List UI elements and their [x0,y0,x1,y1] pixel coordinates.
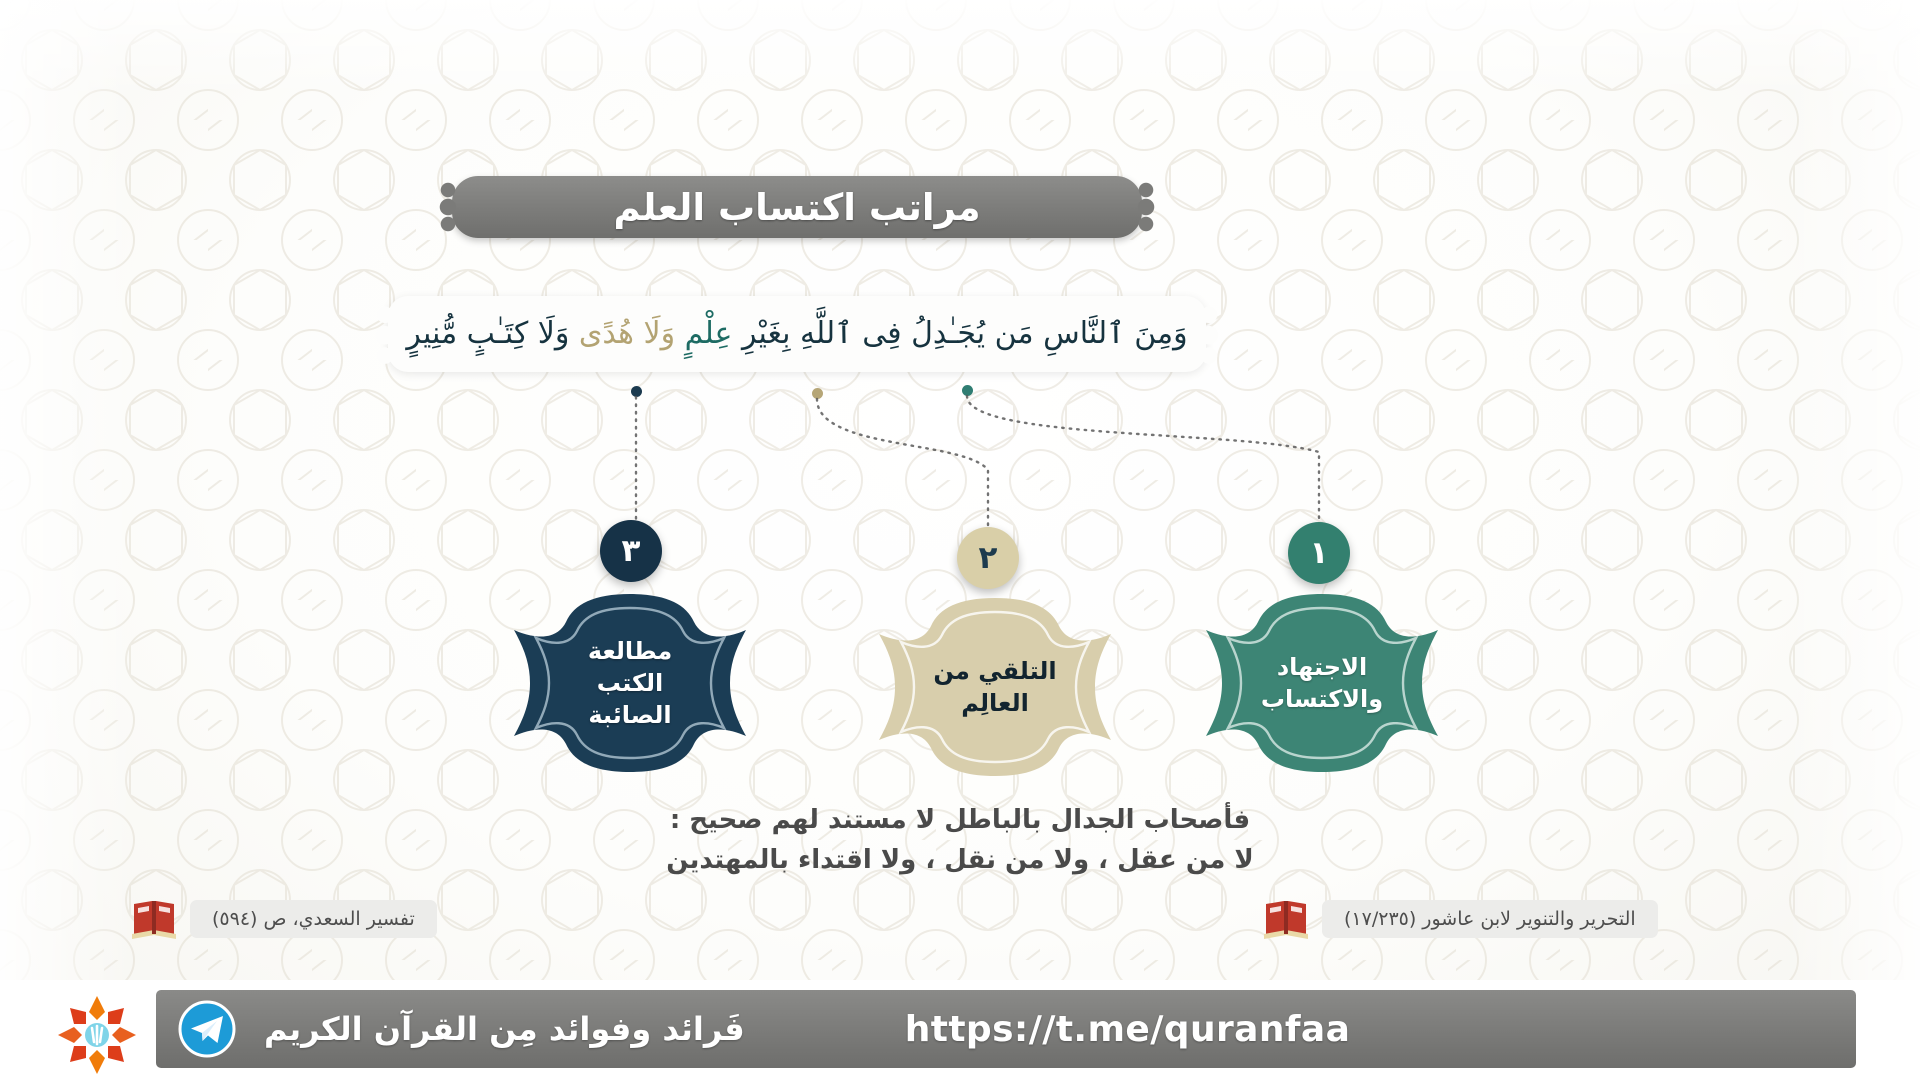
infographic-poster: مراتب اكتساب العلم وَمِنَ ٱلنَّاسِ مَن ي… [0,0,1920,1078]
verse-segment-lead: وَمِنَ ٱلنَّاسِ مَن يُجَـٰدِلُ فِى ٱللَّ… [742,316,1188,351]
book-icon [1262,898,1310,940]
conclusion-text: فأصحاب الجدال بالباطل لا مستند لهم صحيح … [360,800,1560,881]
rank-number-3: ٣ [622,533,641,569]
connector-rank-2 [817,399,988,527]
rank-badge-label-3: مطالعة الكتب الصائبة [544,635,716,731]
connector-rank-1 [967,396,1319,522]
telegram-icon[interactable] [178,1000,236,1058]
rank-badge-line-2a: التلقي من [933,655,1056,687]
rank-badge-label-2: التلقي من العالِم [889,655,1100,719]
rank-badge-line-1b: والاكتساب [1261,683,1383,715]
rank-number-bubble-2[interactable]: ٢ [957,527,1019,589]
rank-number-bubble-3[interactable]: ٣ [600,520,662,582]
rank-number-2: ٢ [979,540,998,576]
verse-segment-ilm: عِلْمٍ [685,316,742,351]
verse-segment-huda: وَلَا هُدًى [579,316,685,351]
citation-left: تفسير السعدي، ص (٥٩٤) [130,898,437,940]
citation-right-text: التحرير والتنوير لابن عاشور (١٧/٢٣٥) [1322,900,1658,938]
conclusion-line-1: فأصحاب الجدال بالباطل لا مستند لهم صحيح … [360,800,1560,840]
rank-badge-line-3b: الكتب [588,667,672,699]
footer-bar: https://t.me/quranfaa فَرائد وفوائد مِن … [156,990,1856,1068]
brand-flower-logo [56,994,138,1076]
verse-anchor-dot-rank-1 [962,385,973,396]
quran-verse-card: وَمِنَ ٱلنَّاسِ مَن يُجَـٰدِلُ فِى ٱللَّ… [388,296,1206,372]
verse-anchor-dot-rank-3 [631,386,642,397]
quran-verse-text: وَمِنَ ٱلنَّاسِ مَن يُجَـٰدِلُ فِى ٱللَّ… [380,314,1213,355]
channel-tagline: فَرائد وفوائد مِن القرآن الكريم [264,1010,745,1048]
conclusion-line-2: لا من عقل ، ولا من نقل ، ولا اقتداء بالم… [360,840,1560,880]
rank-badge-label-1: الاجتهاد والاكتساب [1217,651,1427,715]
citation-left-text: تفسير السعدي، ص (٥٩٤) [190,900,437,938]
channel-url[interactable]: https://t.me/quranfaa [905,1009,1351,1050]
page-title-banner: مراتب اكتساب العلم [452,176,1142,238]
book-icon [130,898,178,940]
rank-badge-2[interactable]: التلقي من العالِم [855,592,1135,782]
rank-badge-line-2b: العالِم [933,687,1056,719]
rank-number-1: ١ [1310,535,1329,571]
rank-badge-1[interactable]: الاجتهاد والاكتساب [1182,588,1462,778]
footer: https://t.me/quranfaa فَرائد وفوائد مِن … [0,980,1920,1078]
citation-right: التحرير والتنوير لابن عاشور (١٧/٢٣٥) [1262,898,1658,940]
page-title: مراتب اكتساب العلم [613,186,980,229]
rank-badge-line-1a: الاجتهاد [1261,651,1383,683]
verse-segment-kitab: وَلَا كِتَـٰبٍ مُّنِيرٍ [406,316,579,351]
rank-badge-3[interactable]: مطالعة الكتب الصائبة [490,588,770,778]
rank-badge-line-3c: الصائبة [588,699,672,731]
verse-anchor-dot-rank-2 [812,388,823,399]
rank-badge-line-3a: مطالعة [588,635,672,667]
rank-number-bubble-1[interactable]: ١ [1288,522,1350,584]
